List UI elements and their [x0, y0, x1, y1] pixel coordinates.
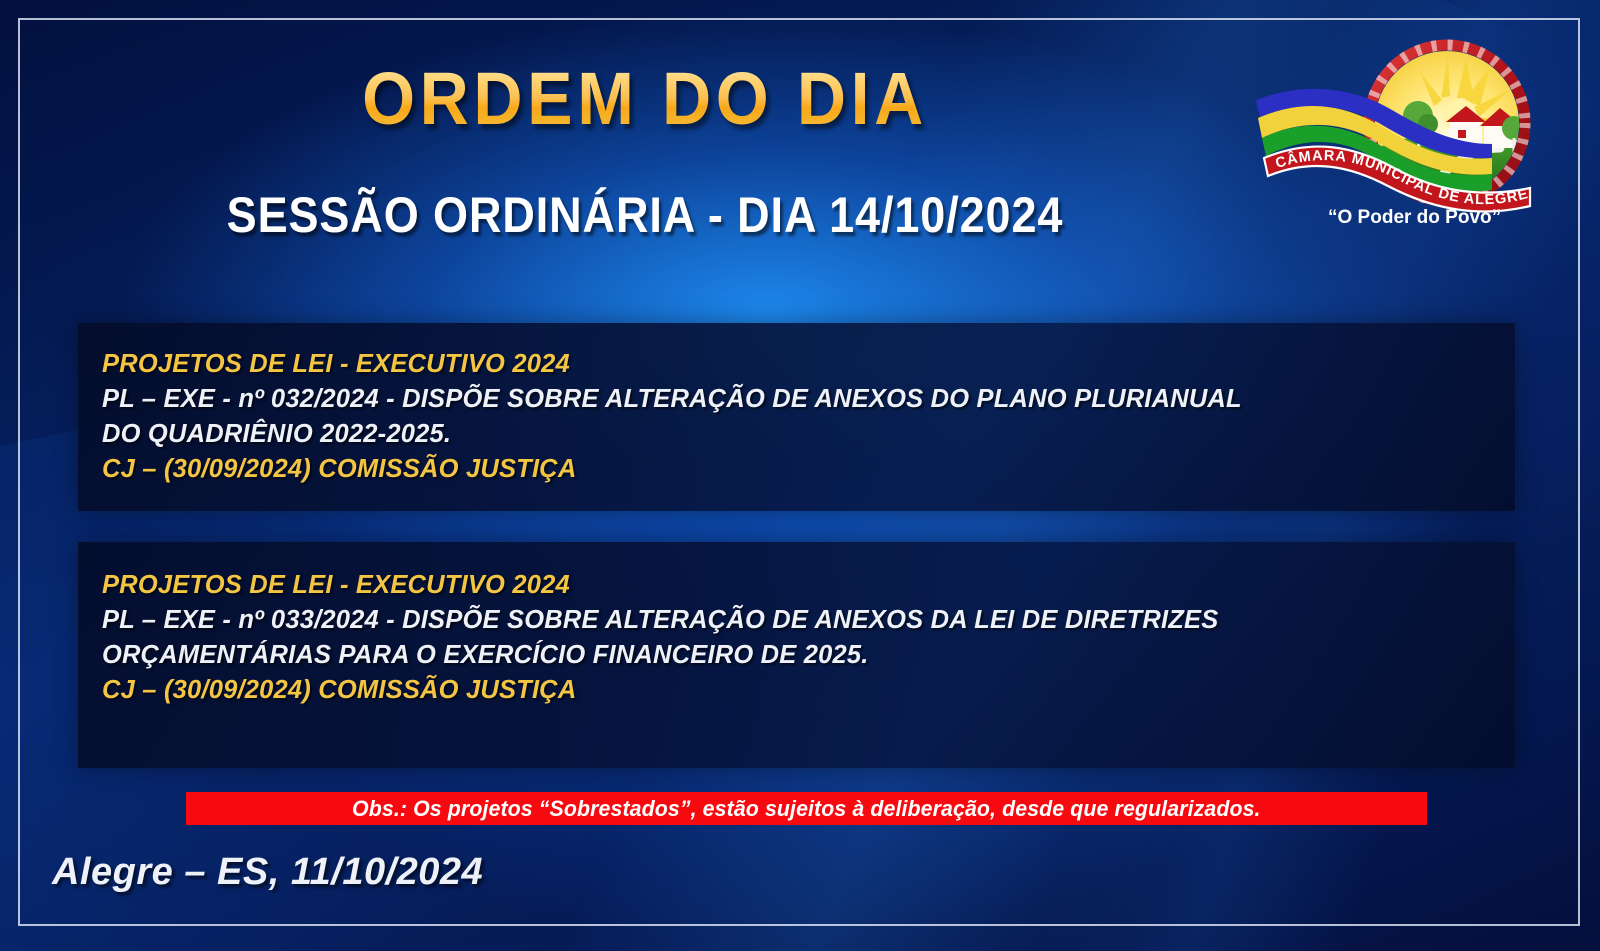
agenda-item-1-line-1: PL – EXE - nº 032/2024 - DISPÕE SOBRE AL… — [102, 382, 1515, 417]
agenda-item-1-lines: PROJETOS DE LEI - EXECUTIVO 2024 PL – EX… — [78, 323, 1515, 487]
agenda-item-2-status: CJ – (30/09/2024) COMISSÃO JUSTIÇA — [102, 673, 1515, 708]
agenda-item-1-heading: PROJETOS DE LEI - EXECUTIVO 2024 — [102, 347, 1515, 382]
slide-canvas: ORDEM DO DIA SESSÃO ORDINÁRIA - DIA 14/1… — [0, 0, 1600, 951]
camara-municipal-logo: CÂMARA MUNICIPAL DE ALEGRE - ES “O Poder… — [1242, 38, 1542, 228]
footer-place-date: Alegre – ES, 11/10/2024 — [52, 851, 483, 894]
agenda-item-2-lines: PROJETOS DE LEI - EXECUTIVO 2024 PL – EX… — [78, 542, 1515, 708]
agenda-item-1: PROJETOS DE LEI - EXECUTIVO 2024 PL – EX… — [78, 323, 1515, 511]
logo-svg: CÂMARA MUNICIPAL DE ALEGRE - ES “O Poder… — [1242, 38, 1542, 228]
agenda-item-2-heading: PROJETOS DE LEI - EXECUTIVO 2024 — [102, 568, 1515, 603]
page-title: ORDEM DO DIA — [52, 62, 1239, 136]
observation-banner: Obs.: Os projetos “Sobrestados”, estão s… — [186, 792, 1427, 825]
agenda-item-2: PROJETOS DE LEI - EXECUTIVO 2024 PL – EX… — [78, 542, 1515, 768]
logo-motto: “O Poder do Povo” — [1328, 207, 1501, 228]
agenda-item-2-line-1: PL – EXE - nº 033/2024 - DISPÕE SOBRE AL… — [102, 603, 1515, 638]
agenda-item-2-line-2: ORÇAMENTÁRIAS PARA O EXERCÍCIO FINANCEIR… — [102, 638, 1515, 673]
agenda-item-1-status: CJ – (30/09/2024) COMISSÃO JUSTIÇA — [102, 452, 1515, 487]
page-subtitle: SESSÃO ORDINÁRIA - DIA 14/10/2024 — [65, 186, 1226, 244]
observation-text: Obs.: Os projetos “Sobrestados”, estão s… — [352, 796, 1261, 822]
agenda-item-1-line-2: DO QUADRIÊNIO 2022-2025. — [102, 417, 1515, 452]
